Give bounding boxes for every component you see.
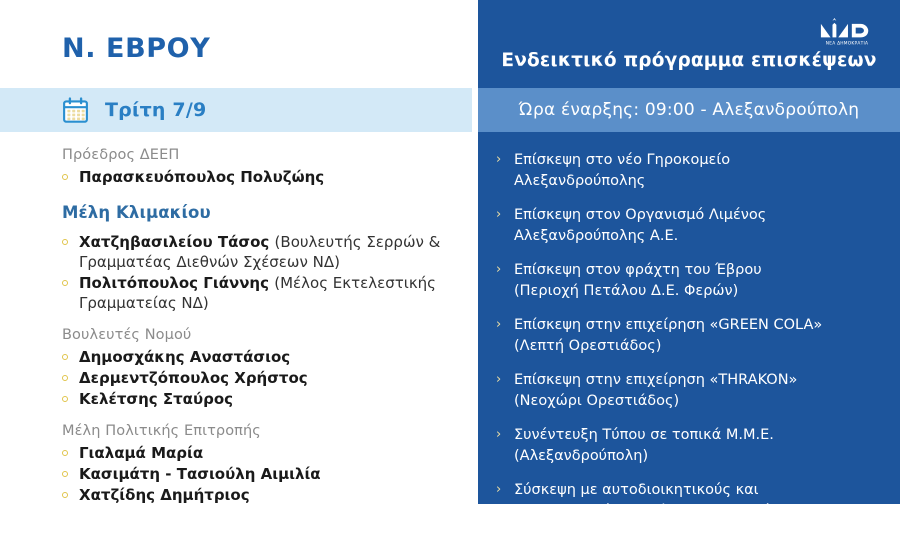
chevron-right-icon: › [496, 260, 501, 281]
chevron-right-icon: › [496, 480, 501, 501]
logo-text: ΝΕΑ ΔΗΜΟΚΡΑΤΙΑ [826, 41, 868, 47]
chevron-right-icon: › [496, 370, 501, 391]
list-item: › Επίσκεψη στο νέο Γηροκομείο Αλεξανδρού… [478, 150, 900, 191]
roster-group-label: Βουλευτές Νομού [62, 325, 462, 345]
date-label: Τρίτη 7/9 [105, 99, 206, 121]
bullet-ring-icon [62, 375, 68, 381]
person-name: Χατζίδης Δημήτριος [79, 486, 250, 504]
list-item: Χατζηβασιλείου Τάσος (Βουλευτής Σερρών &… [62, 232, 462, 272]
visit-line-1: Επίσκεψη στον Οργανισμό Λιμένος [514, 207, 766, 223]
start-time-bar: Ώρα έναρξης: 09:00 - Αλεξανδρούπολη [478, 88, 900, 132]
list-item: › Επίσκεψη στον Οργανισμό Λιμένος Αλεξαν… [478, 205, 900, 246]
bullet-ring-icon [62, 280, 68, 286]
date-bar: Τρίτη 7/9 [0, 88, 472, 132]
bullet-ring-icon [62, 354, 68, 360]
program-poster: Ν. ΕΒΡΟΥ [0, 0, 900, 504]
person-name: Κελέτσης Σταύρος [79, 390, 233, 408]
calendar-icon [62, 97, 89, 124]
list-item: Πολιτόπουλος Γιάννης (Μέλος Εκτελεστικής… [62, 273, 462, 313]
list-item: Δημοσχάκης Αναστάσιος [62, 347, 462, 367]
person-list: Δημοσχάκης Αναστάσιος Δερμεντζόπουλος Χρ… [62, 347, 462, 409]
roster-group-label: Μέλη Πολιτικής Επιτροπής [62, 421, 462, 441]
bullet-ring-icon [62, 450, 68, 456]
person-name: Γιαλαμά Μαρία [79, 444, 203, 462]
chevron-right-icon: › [496, 150, 501, 171]
list-item: › Επίσκεψη στην επιχείρηση «THRAKON» (Νε… [478, 370, 900, 411]
roster-group: Μέλη Κλιμακίου Χατζηβασιλείου Τάσος (Βου… [62, 203, 462, 313]
roster-group: Πρόεδρος ΔΕΕΠ Παρασκευόπουλος Πολυζώης [62, 145, 462, 187]
list-item: › Συνέντευξη Τύπου σε τοπικά Μ.Μ.Ε. (Αλε… [478, 425, 900, 466]
bullet-ring-icon [62, 396, 68, 402]
list-item: › Επίσκεψη στην επιχείρηση «GREEN COLA» … [478, 315, 900, 356]
list-item: Δερμεντζόπουλος Χρήστος [62, 368, 462, 388]
nea-dimokratia-logo: ΝΕΑ ΔΗΜΟΚΡΑΤΙΑ [818, 18, 876, 48]
visits-list: › Επίσκεψη στο νέο Γηροκομείο Αλεξανδρού… [478, 150, 900, 535]
bullet-ring-icon [62, 492, 68, 498]
chevron-right-icon: › [496, 205, 501, 226]
visit-line-2: (Νεοχώρι Ορεστιάδος) [514, 391, 886, 412]
list-item: › Σύσκεψη με αυτοδιοικητικούς και παραγω… [478, 480, 900, 521]
right-panel: ΝΕΑ ΔΗΜΟΚΡΑΤΙΑ Ενδεικτικό πρόγραμμα επισ… [478, 0, 900, 504]
roster-group-label: Μέλη Κλιμακίου [62, 203, 462, 223]
roster-group: Βουλευτές Νομού Δημοσχάκης Αναστάσιος Δε… [62, 325, 462, 409]
left-panel: Ν. ΕΒΡΟΥ [0, 0, 472, 504]
list-item: Κελέτσης Σταύρος [62, 389, 462, 409]
chevron-right-icon: › [496, 425, 501, 446]
visit-line-1: Σύσκεψη με αυτοδιοικητικούς και [514, 482, 759, 498]
roster-group: Μέλη Πολιτικής Επιτροπής Γιαλαμά Μαρία Κ… [62, 421, 462, 505]
list-item: Γιαλαμά Μαρία [62, 443, 462, 463]
visit-line-2: Αλεξανδρούπολης Α.Ε. [514, 226, 886, 247]
person-name: Δερμεντζόπουλος Χρήστος [79, 369, 308, 387]
person-name: Χατζηβασιλείου Τάσος [79, 233, 275, 251]
start-time-label: Ώρα έναρξης: 09:00 - Αλεξανδρούπολη [519, 100, 859, 120]
visit-line-2: Αλεξανδρούπολης [514, 171, 886, 192]
list-item: Παρασκευόπουλος Πολυζώης [62, 167, 462, 187]
program-title: Ενδεικτικό πρόγραμμα επισκέψεων [478, 50, 900, 71]
roster-container: Πρόεδρος ΔΕΕΠ Παρασκευόπουλος Πολυζώης Μ… [62, 145, 462, 507]
person-list: Παρασκευόπουλος Πολυζώης [62, 167, 462, 187]
visit-line-1: Επίσκεψη στο νέο Γηροκομείο [514, 152, 730, 168]
bullet-ring-icon [62, 239, 68, 245]
roster-group-label: Πρόεδρος ΔΕΕΠ [62, 145, 462, 165]
visit-line-1: Επίσκεψη στον φράχτη του Έβρου [514, 262, 762, 278]
person-list: Γιαλαμά Μαρία Κασιμάτη - Τασιούλη Αιμιλί… [62, 443, 462, 505]
visit-line-1: Επίσκεψη στην επιχείρηση «THRAKON» [514, 372, 797, 388]
list-item: Χατζίδης Δημήτριος [62, 485, 462, 505]
visit-line-1: Επίσκεψη στην επιχείρηση «GREEN COLA» [514, 317, 822, 333]
visit-line-2: (Περιοχή Πετάλου Δ.Ε. Φερών) [514, 281, 886, 302]
visit-line-1: Συνέντευξη Τύπου σε τοπικά Μ.Μ.Ε. [514, 427, 774, 443]
chevron-right-icon: › [496, 315, 501, 336]
bullet-ring-icon [62, 174, 68, 180]
list-item: Κασιμάτη - Τασιούλη Αιμιλία [62, 464, 462, 484]
spacer [62, 315, 462, 325]
visit-line-2: (Λεπτή Ορεστιάδος) [514, 336, 886, 357]
person-list: Χατζηβασιλείου Τάσος (Βουλευτής Σερρών &… [62, 232, 462, 313]
page-title: Ν. ΕΒΡΟΥ [62, 33, 210, 64]
person-name: Παρασκευόπουλος Πολυζώης [79, 168, 324, 186]
person-name: Πολιτόπουλος Γιάννης [79, 274, 274, 292]
visit-line-2: (Αλεξανδρούπολη) [514, 446, 886, 467]
bullet-ring-icon [62, 471, 68, 477]
person-name: Δημοσχάκης Αναστάσιος [79, 348, 290, 366]
spacer [62, 411, 462, 421]
person-name: Κασιμάτη - Τασιούλη Αιμιλία [79, 465, 321, 483]
list-item: › Επίσκεψη στον φράχτη του Έβρου (Περιοχ… [478, 260, 900, 301]
